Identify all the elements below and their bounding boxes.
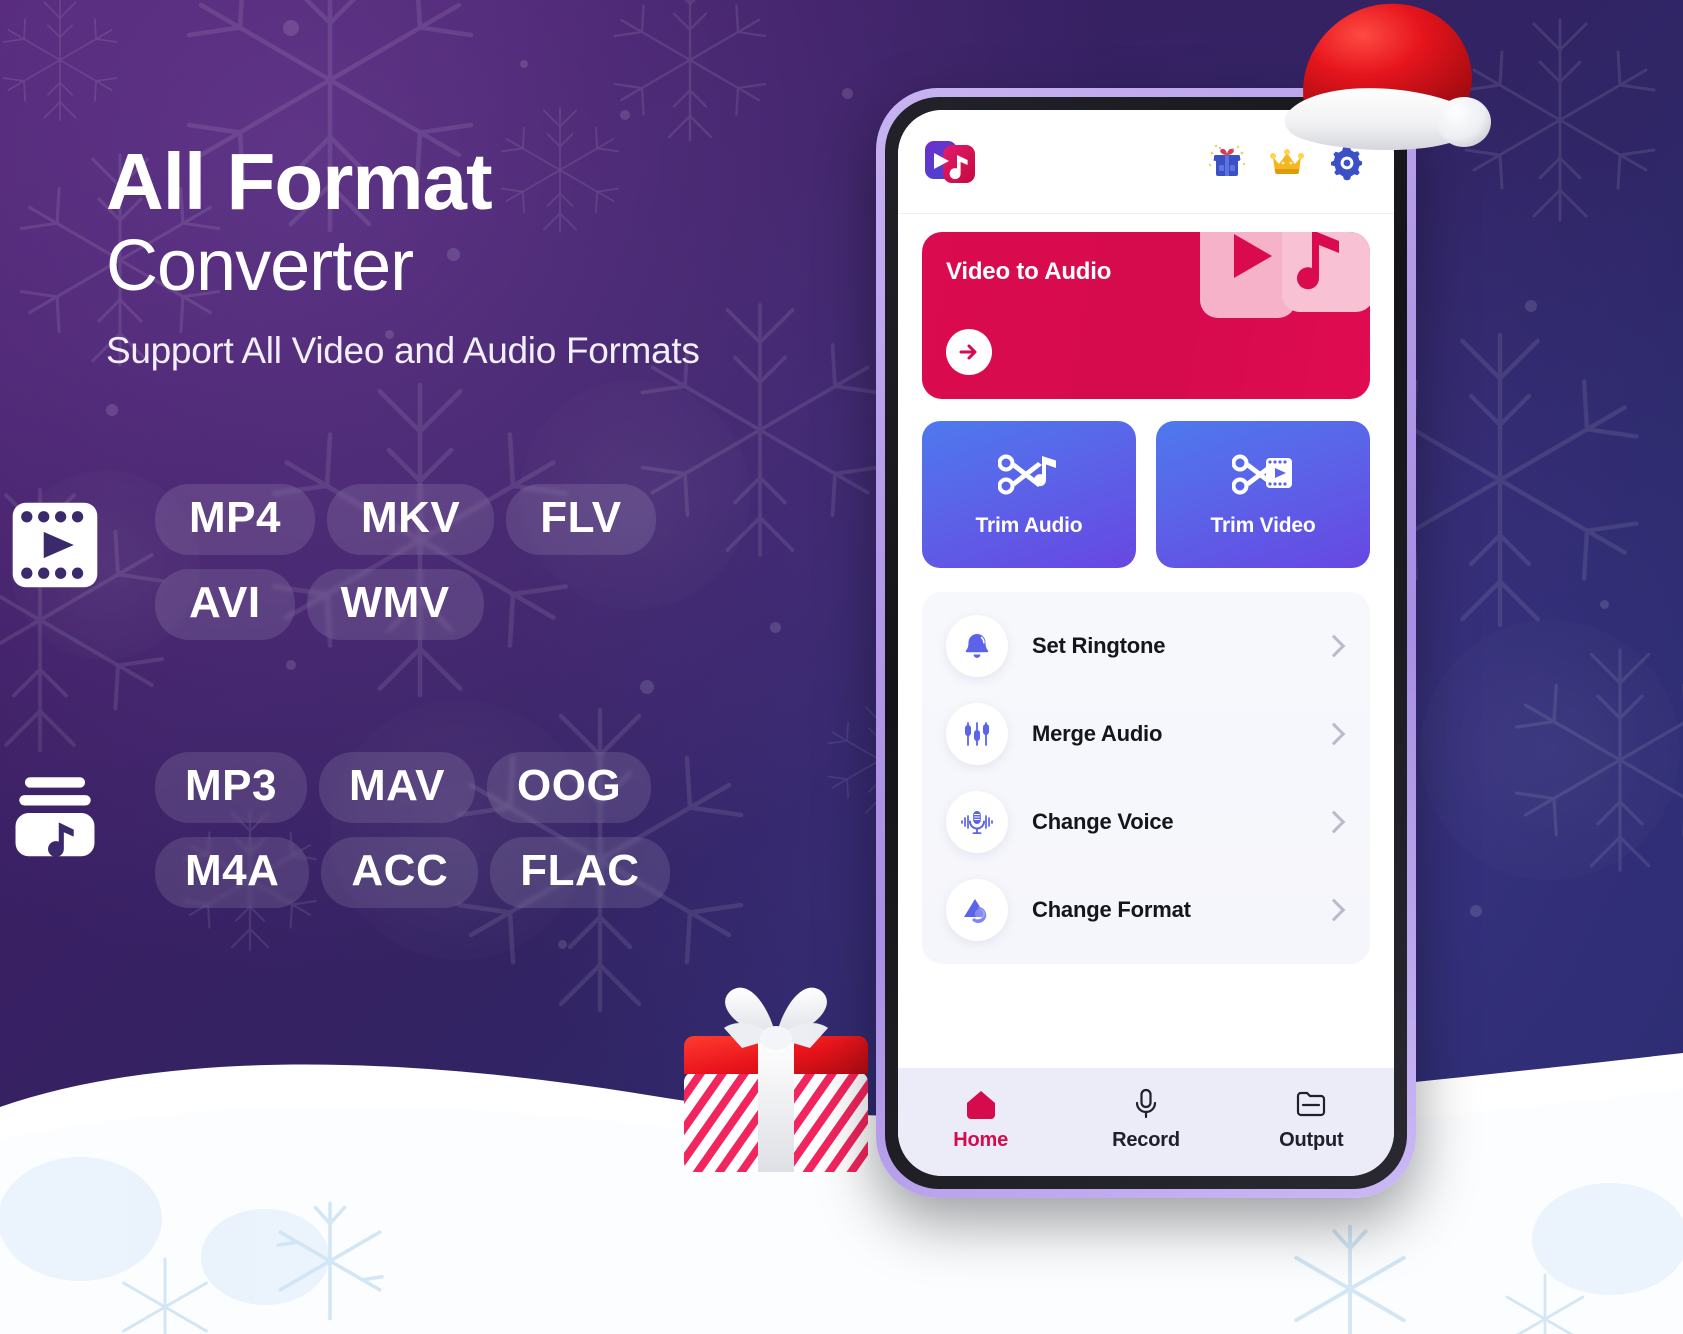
app-content: Video to Audio xyxy=(898,214,1394,1068)
gift-box-decoration xyxy=(676,976,876,1176)
arrow-right-icon[interactable] xyxy=(946,329,992,375)
trim-video-tile[interactable]: Trim Video xyxy=(1156,421,1370,568)
santa-hat-decoration xyxy=(1276,0,1491,164)
microphone-icon xyxy=(1129,1087,1163,1121)
format-chip: OOG xyxy=(487,752,651,823)
format-chip: MAV xyxy=(319,752,475,823)
video-film-icon xyxy=(8,498,102,592)
nav-item-record[interactable]: Record xyxy=(1063,1087,1228,1152)
phone-screen: Video to Audio xyxy=(898,110,1394,1176)
format-chip: AVI xyxy=(155,569,295,640)
audio-stack-icon xyxy=(8,766,102,860)
list-item-label: Set Ringtone xyxy=(1032,633,1326,659)
list-item-merge-audio[interactable]: Merge Audio xyxy=(928,690,1364,778)
format-chip: ACC xyxy=(321,837,478,908)
format-chip: MKV xyxy=(327,484,494,555)
page-title-line2: Converter xyxy=(106,231,866,302)
format-chip: FLV xyxy=(506,484,655,555)
gift-icon[interactable] xyxy=(1206,141,1248,183)
folder-icon xyxy=(1294,1087,1328,1121)
format-convert-icon-wrap xyxy=(946,879,1008,941)
chevron-right-icon[interactable] xyxy=(1323,635,1346,658)
home-icon xyxy=(964,1087,998,1121)
nav-item-output[interactable]: Output xyxy=(1229,1087,1394,1152)
list-item-change-format[interactable]: Change Format xyxy=(928,866,1364,954)
format-convert-icon xyxy=(962,895,992,925)
chevron-right-icon[interactable] xyxy=(1323,723,1346,746)
trim-audio-label: Trim Audio xyxy=(976,514,1083,538)
nav-item-label: Record xyxy=(1112,1129,1180,1152)
app-logo-icon[interactable] xyxy=(924,136,976,188)
nav-item-label: Output xyxy=(1279,1129,1343,1152)
bottom-navigation: Home Record Output xyxy=(898,1068,1394,1176)
merge-sliders-icon xyxy=(962,719,992,749)
phone-bezel: Video to Audio xyxy=(885,97,1407,1189)
chevron-right-icon[interactable] xyxy=(1323,811,1346,834)
list-item-change-voice[interactable]: Change Voice xyxy=(928,778,1364,866)
list-item-label: Change Voice xyxy=(1032,809,1326,835)
video-music-artwork-icon xyxy=(1186,232,1370,370)
microphone-wave-icon-wrap xyxy=(946,791,1008,853)
video-format-chips: MP4 MKV FLV AVI WMV xyxy=(155,484,775,640)
format-chip: MP3 xyxy=(155,752,307,823)
format-chip: FLAC xyxy=(490,837,669,908)
trim-tiles-row: Trim Audio xyxy=(922,421,1370,568)
scissors-film-icon xyxy=(1232,452,1294,498)
nav-item-home[interactable]: Home xyxy=(898,1087,1063,1152)
video-formats-group: MP4 MKV FLV AVI WMV xyxy=(0,484,760,640)
page-subtitle: Support All Video and Audio Formats xyxy=(106,330,866,372)
video-to-audio-card[interactable]: Video to Audio xyxy=(922,232,1370,399)
bell-icon-wrap xyxy=(946,615,1008,677)
list-item-set-ringtone[interactable]: Set Ringtone xyxy=(928,602,1364,690)
list-item-label: Merge Audio xyxy=(1032,721,1326,747)
chevron-right-icon[interactable] xyxy=(1323,899,1346,922)
microphone-wave-icon xyxy=(961,807,993,837)
phone-mockup: Video to Audio xyxy=(876,88,1416,1198)
feature-list-panel: Set Ringtone xyxy=(922,592,1370,964)
list-item-label: Change Format xyxy=(1032,897,1326,923)
format-chip: WMV xyxy=(307,569,484,640)
audio-format-chips: MP3 MAV OOG M4A ACC FLAC xyxy=(155,752,775,908)
trim-video-label: Trim Video xyxy=(1211,514,1316,538)
nav-item-label: Home xyxy=(953,1129,1008,1152)
merge-sliders-icon-wrap xyxy=(946,703,1008,765)
scissors-music-icon xyxy=(998,452,1060,498)
page-title-line1: All Format xyxy=(106,142,866,221)
format-chip: M4A xyxy=(155,837,309,908)
audio-formats-group: MP3 MAV OOG M4A ACC FLAC xyxy=(0,752,760,908)
format-chip: MP4 xyxy=(155,484,315,555)
bell-icon xyxy=(962,631,992,661)
trim-audio-tile[interactable]: Trim Audio xyxy=(922,421,1136,568)
